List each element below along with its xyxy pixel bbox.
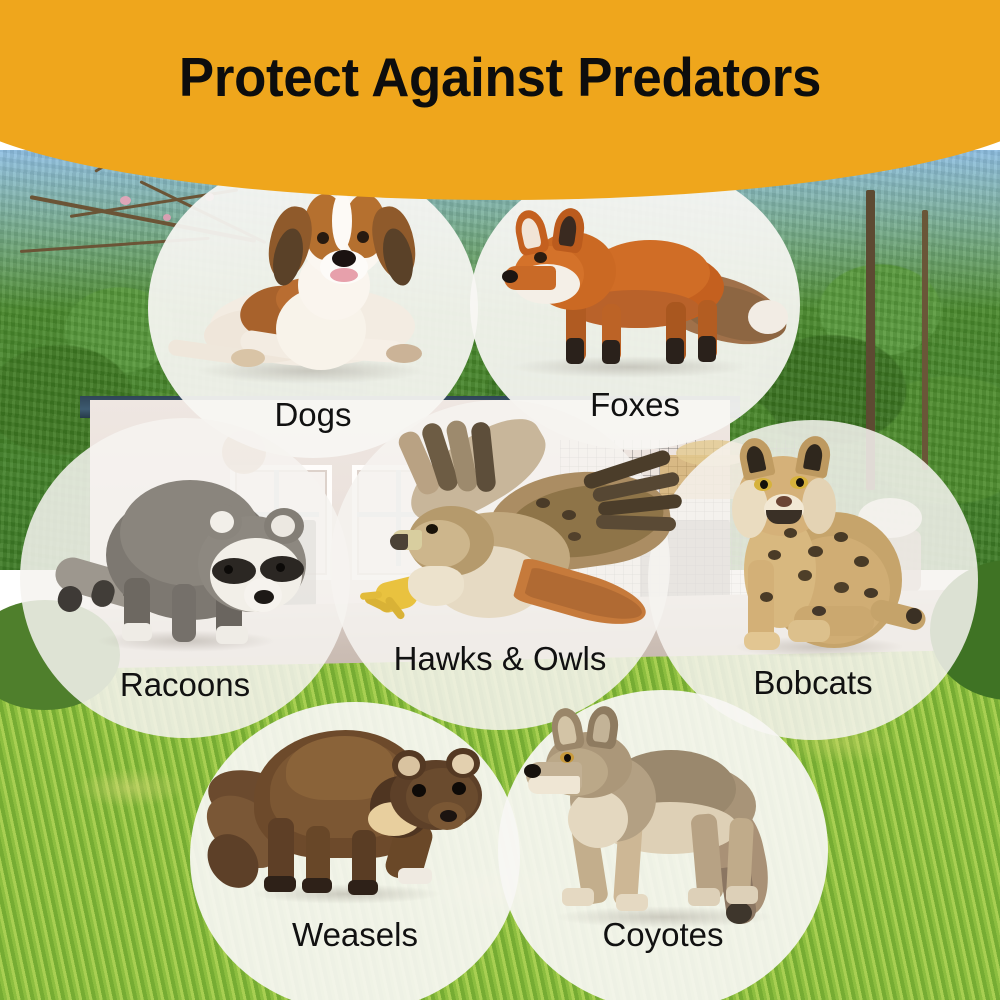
- predator-label: Racoons: [120, 666, 250, 704]
- predator-label: Coyotes: [602, 916, 723, 954]
- predator-infographic: Protect Against Predators: [0, 0, 1000, 1000]
- predator-card-weasels[interactable]: Weasels: [190, 702, 520, 1000]
- predator-label: Hawks & Owls: [394, 640, 607, 678]
- page-title: Protect Against Predators: [0, 45, 1000, 109]
- header-banner: Protect Against Predators: [0, 0, 1000, 200]
- predator-card-coyotes[interactable]: Coyotes: [498, 690, 828, 1000]
- weasel-icon: [190, 702, 520, 1000]
- predator-card-racoons[interactable]: Racoons: [20, 418, 350, 738]
- hawk-icon: [330, 400, 670, 730]
- predator-label: Weasels: [292, 916, 418, 954]
- predator-card-hawks-owls[interactable]: Hawks & Owls: [330, 400, 670, 730]
